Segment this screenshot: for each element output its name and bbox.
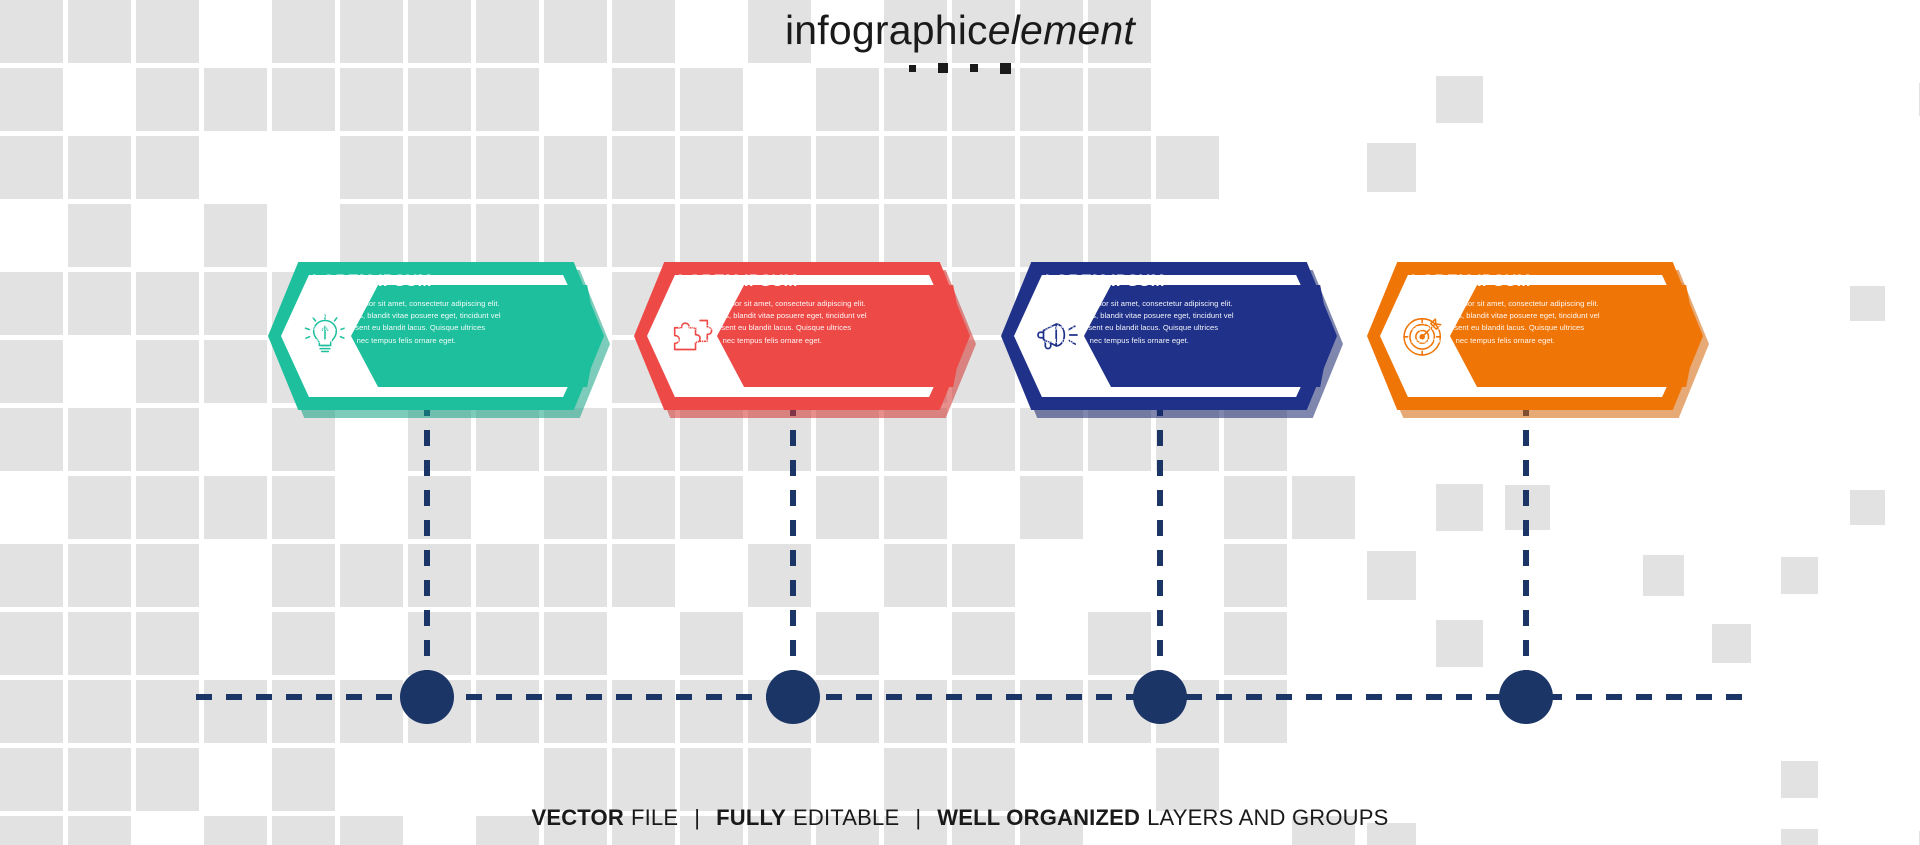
mosaic-square xyxy=(1850,490,1885,525)
mosaic-square xyxy=(136,136,199,199)
card-title-3: LOREM IPSUM xyxy=(1045,272,1237,292)
mosaic-square xyxy=(0,408,63,471)
title-dot-2 xyxy=(938,63,948,73)
mosaic-square xyxy=(1224,476,1287,539)
title-dot-row xyxy=(0,61,1920,75)
mosaic-square xyxy=(748,204,811,267)
mosaic-square xyxy=(884,68,947,131)
timeline-node-3[interactable] xyxy=(1133,670,1187,724)
mosaic-square xyxy=(1712,624,1751,663)
mosaic-square xyxy=(680,68,743,131)
mosaic-square xyxy=(952,204,1015,267)
mosaic-square xyxy=(136,408,199,471)
mosaic-square xyxy=(1088,68,1151,131)
mosaic-square xyxy=(952,748,1015,811)
mosaic-square xyxy=(816,136,879,199)
mosaic-square xyxy=(476,136,539,199)
mosaic-square xyxy=(544,476,607,539)
mosaic-square xyxy=(952,408,1015,471)
footer-separator-2: | xyxy=(915,805,921,830)
mosaic-square xyxy=(612,408,675,471)
mosaic-square xyxy=(1781,557,1818,594)
mosaic-square xyxy=(68,408,131,471)
step-card-4[interactable]: LOREM IPSUM Lorem ipsum dolor sit amet, … xyxy=(1367,262,1703,410)
connector-line-1 xyxy=(424,400,430,684)
mosaic-square xyxy=(612,748,675,811)
mosaic-square xyxy=(1156,748,1219,811)
mosaic-square xyxy=(408,612,471,675)
mosaic-square xyxy=(612,204,675,267)
card-text-block-3: LOREM IPSUM Lorem ipsum dolor sit amet, … xyxy=(1045,272,1237,347)
mosaic-square xyxy=(272,748,335,811)
mosaic-square xyxy=(408,136,471,199)
mosaic-square xyxy=(68,476,131,539)
mosaic-square xyxy=(884,748,947,811)
mosaic-square xyxy=(612,476,675,539)
mosaic-square xyxy=(680,204,743,267)
mosaic-square xyxy=(272,68,335,131)
mosaic-square xyxy=(136,748,199,811)
mosaic-square xyxy=(272,612,335,675)
mosaic-square xyxy=(476,680,539,743)
mosaic-square xyxy=(204,272,267,335)
card-text-block-1: LOREM IPSUM Lorem ipsum dolor sit amet, … xyxy=(312,272,504,347)
mosaic-square xyxy=(884,204,947,267)
step-card-2[interactable]: LOREM IPSUM Lorem ipsum dolor sit amet, … xyxy=(634,262,970,410)
mosaic-square xyxy=(1020,680,1083,743)
mosaic-square xyxy=(1436,620,1483,667)
step-card-1[interactable]: LOREM IPSUM Lorem ipsum dolor sit amet, … xyxy=(268,262,604,410)
title-dot-4 xyxy=(1000,63,1011,74)
mosaic-square xyxy=(136,680,199,743)
mosaic-square xyxy=(1850,286,1885,321)
card-body-3: Lorem ipsum dolor sit amet, consectetur … xyxy=(1045,298,1237,347)
mosaic-square xyxy=(1367,143,1416,192)
title-italic-part: element xyxy=(988,7,1135,53)
mosaic-square xyxy=(272,680,335,743)
mosaic-square xyxy=(204,204,267,267)
mosaic-square xyxy=(680,136,743,199)
mosaic-square xyxy=(476,612,539,675)
mosaic-square xyxy=(68,612,131,675)
mosaic-square xyxy=(544,204,607,267)
mosaic-square xyxy=(816,68,879,131)
mosaic-square xyxy=(476,68,539,131)
mosaic-square xyxy=(1156,136,1219,199)
mosaic-square xyxy=(1436,76,1483,123)
mosaic-square xyxy=(680,612,743,675)
mosaic-square xyxy=(68,748,131,811)
mosaic-square xyxy=(204,680,267,743)
mosaic-square xyxy=(340,680,403,743)
mosaic-square xyxy=(1781,829,1818,845)
card-body-4: Lorem ipsum dolor sit amet, consectetur … xyxy=(1411,298,1603,347)
mosaic-square xyxy=(272,544,335,607)
mosaic-square xyxy=(136,340,199,403)
mosaic-square xyxy=(952,68,1015,131)
mosaic-square xyxy=(544,136,607,199)
mosaic-square xyxy=(952,544,1015,607)
mosaic-square xyxy=(544,612,607,675)
mosaic-square xyxy=(0,748,63,811)
mosaic-square xyxy=(340,136,403,199)
mosaic-square xyxy=(680,476,743,539)
page-title: infographicelement xyxy=(0,8,1920,53)
card-title-2: LOREM IPSUM xyxy=(678,272,870,292)
connector-line-3 xyxy=(1157,400,1163,684)
mosaic-square xyxy=(884,136,947,199)
mosaic-square xyxy=(136,544,199,607)
infographic-canvas: infographicelement xyxy=(0,0,1920,845)
mosaic-square xyxy=(204,68,267,131)
footer-file-label: FILE xyxy=(631,805,678,830)
footer-separator-1: | xyxy=(694,805,700,830)
card-text-block-2: LOREM IPSUM Lorem ipsum dolor sit amet, … xyxy=(678,272,870,347)
mosaic-square xyxy=(1292,476,1355,539)
mosaic-square xyxy=(340,68,403,131)
mosaic-square xyxy=(408,544,471,607)
mosaic-square xyxy=(952,136,1015,199)
mosaic-square xyxy=(204,476,267,539)
mosaic-square xyxy=(1020,476,1083,539)
mosaic-square xyxy=(1436,484,1483,531)
mosaic-square xyxy=(884,544,947,607)
background-mosaic xyxy=(0,0,1920,845)
connector-line-4 xyxy=(1523,400,1529,684)
mosaic-square xyxy=(408,204,471,267)
card-title-1: LOREM IPSUM xyxy=(312,272,504,292)
card-body-1: Lorem ipsum dolor sit amet, consectetur … xyxy=(312,298,504,347)
mosaic-square xyxy=(408,476,471,539)
mosaic-square xyxy=(544,544,607,607)
mosaic-square xyxy=(1781,761,1818,798)
footer-caption: VECTORFILE|FULLYEDITABLE|WELL ORGANIZEDL… xyxy=(0,805,1920,831)
mosaic-square xyxy=(884,680,947,743)
mosaic-square xyxy=(408,68,471,131)
mosaic-square xyxy=(748,136,811,199)
mosaic-square xyxy=(68,272,131,335)
mosaic-square xyxy=(748,748,811,811)
footer-vector-label: VECTOR xyxy=(531,805,623,830)
mosaic-square xyxy=(952,612,1015,675)
mosaic-square xyxy=(0,136,63,199)
mosaic-square xyxy=(1020,136,1083,199)
mosaic-square xyxy=(612,680,675,743)
mosaic-square xyxy=(272,476,335,539)
mosaic-square xyxy=(476,544,539,607)
title-bold-part: infographic xyxy=(785,7,988,53)
mosaic-square xyxy=(136,476,199,539)
mosaic-square xyxy=(612,136,675,199)
mosaic-square xyxy=(1224,612,1287,675)
mosaic-square xyxy=(748,544,811,607)
mosaic-square xyxy=(1088,204,1151,267)
card-text-block-4: LOREM IPSUM Lorem ipsum dolor sit amet, … xyxy=(1411,272,1603,347)
mosaic-square xyxy=(68,204,131,267)
mosaic-square xyxy=(0,340,63,403)
mosaic-square xyxy=(0,680,63,743)
mosaic-square xyxy=(816,612,879,675)
card-title-4: LOREM IPSUM xyxy=(1411,272,1603,292)
mosaic-square xyxy=(1367,551,1416,600)
footer-wellorganized-label: WELL ORGANIZED xyxy=(937,805,1140,830)
mosaic-square xyxy=(0,544,63,607)
mosaic-square xyxy=(340,204,403,267)
mosaic-square xyxy=(136,272,199,335)
footer-editable-label: EDITABLE xyxy=(793,805,899,830)
mosaic-square xyxy=(476,204,539,267)
mosaic-square xyxy=(204,340,267,403)
mosaic-square xyxy=(1643,555,1684,596)
timeline-node-4[interactable] xyxy=(1499,670,1553,724)
mosaic-square xyxy=(952,680,1015,743)
mosaic-square xyxy=(136,612,199,675)
mosaic-square xyxy=(136,68,199,131)
mosaic-square xyxy=(1088,136,1151,199)
mosaic-square xyxy=(68,680,131,743)
mosaic-square xyxy=(1224,544,1287,607)
title-dot-1 xyxy=(909,65,916,72)
mosaic-square xyxy=(612,68,675,131)
mosaic-square xyxy=(1088,612,1151,675)
mosaic-square xyxy=(0,68,63,131)
timeline-node-2[interactable] xyxy=(766,670,820,724)
mosaic-square xyxy=(544,680,607,743)
connector-line-2 xyxy=(790,400,796,684)
card-body-2: Lorem ipsum dolor sit amet, consectetur … xyxy=(678,298,870,347)
mosaic-square xyxy=(612,544,675,607)
mosaic-square xyxy=(1020,204,1083,267)
footer-layers-label: LAYERS AND GROUPS xyxy=(1147,805,1388,830)
footer-fully-label: FULLY xyxy=(716,805,786,830)
mosaic-square xyxy=(0,272,63,335)
mosaic-square xyxy=(0,612,63,675)
mosaic-square xyxy=(1224,680,1287,743)
page-header: infographicelement xyxy=(0,8,1920,75)
mosaic-square xyxy=(816,204,879,267)
mosaic-square xyxy=(816,680,879,743)
mosaic-square xyxy=(1020,68,1083,131)
timeline-node-1[interactable] xyxy=(400,670,454,724)
mosaic-square xyxy=(680,748,743,811)
mosaic-square xyxy=(884,476,947,539)
mosaic-square xyxy=(680,680,743,743)
mosaic-square xyxy=(340,544,403,607)
mosaic-square xyxy=(544,748,607,811)
mosaic-square xyxy=(816,476,879,539)
title-dot-3 xyxy=(970,64,978,72)
mosaic-square xyxy=(68,136,131,199)
mosaic-square xyxy=(68,544,131,607)
step-card-3[interactable]: LOREM IPSUM Lorem ipsum dolor sit amet, … xyxy=(1001,262,1337,410)
